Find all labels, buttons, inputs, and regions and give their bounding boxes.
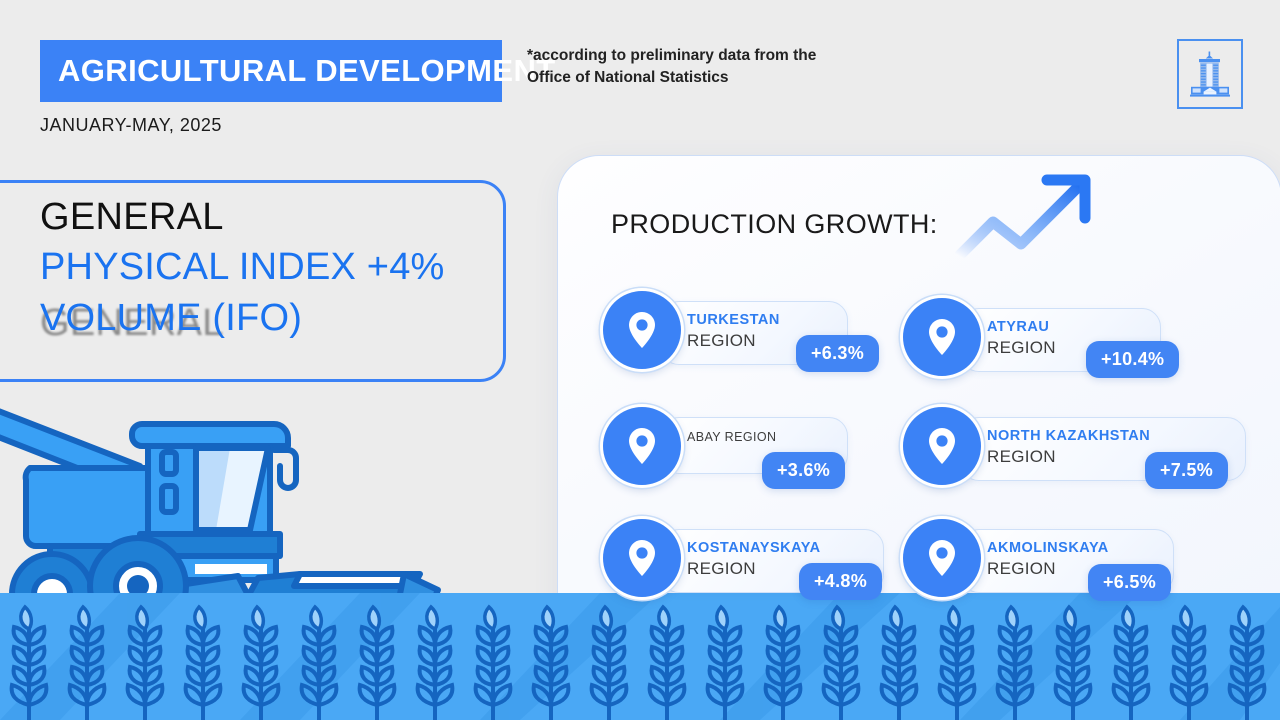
source-note-line2: Office of National Statistics [527,67,887,89]
region-name: ABAY REGION [687,430,829,445]
page-title: AGRICULTURAL DEVELOPMENT [40,53,556,89]
map-pin-icon [600,288,684,372]
upward-trend-arrow-icon [955,168,1105,260]
volume-ifo-label: VOLUME (IFO) [40,297,500,341]
wheat-field-icon [0,593,1280,720]
growth-value-badge: +4.8% [799,563,882,600]
main-title-banner: AGRICULTURAL DEVELOPMENT [40,40,502,102]
map-pin-icon [600,516,684,600]
production-growth-heading: PRODUCTION GROWTH: [611,209,938,240]
period-label: JANUARY-MAY, 2025 [40,115,222,136]
region-name: AKMOLINSKAYA [987,540,1155,558]
infographic-canvas: AGRICULTURAL DEVELOPMENT JANUARY-MAY, 20… [0,0,1280,720]
region-name: NORTH KAZAKHSTAN [987,428,1227,446]
government-building-icon [1187,50,1233,98]
general-index-text: GENERAL GENERAL PHYSICAL INDEX +4% VOLUM… [40,196,500,341]
organization-logo [1177,39,1243,109]
growth-value-badge: +10.4% [1086,341,1179,378]
map-pin-icon [900,404,984,488]
general-label: GENERAL [40,196,500,240]
source-note-line1: *according to preliminary data from the [527,45,887,67]
physical-index-label: PHYSICAL INDEX +4% [40,246,500,290]
growth-value-badge: +6.5% [1088,564,1171,601]
source-note: *according to preliminary data from the … [527,45,887,89]
region-name: KOSTANAYSKAYA [687,540,865,558]
map-pin-icon [600,404,684,488]
region-name: ATYRAU [987,319,1142,337]
map-pin-icon [900,295,984,379]
growth-value-badge: +6.3% [796,335,879,372]
region-name: TURKESTAN [687,312,829,330]
growth-value-badge: +7.5% [1145,452,1228,489]
growth-value-badge: +3.6% [762,452,845,489]
map-pin-icon [900,516,984,600]
